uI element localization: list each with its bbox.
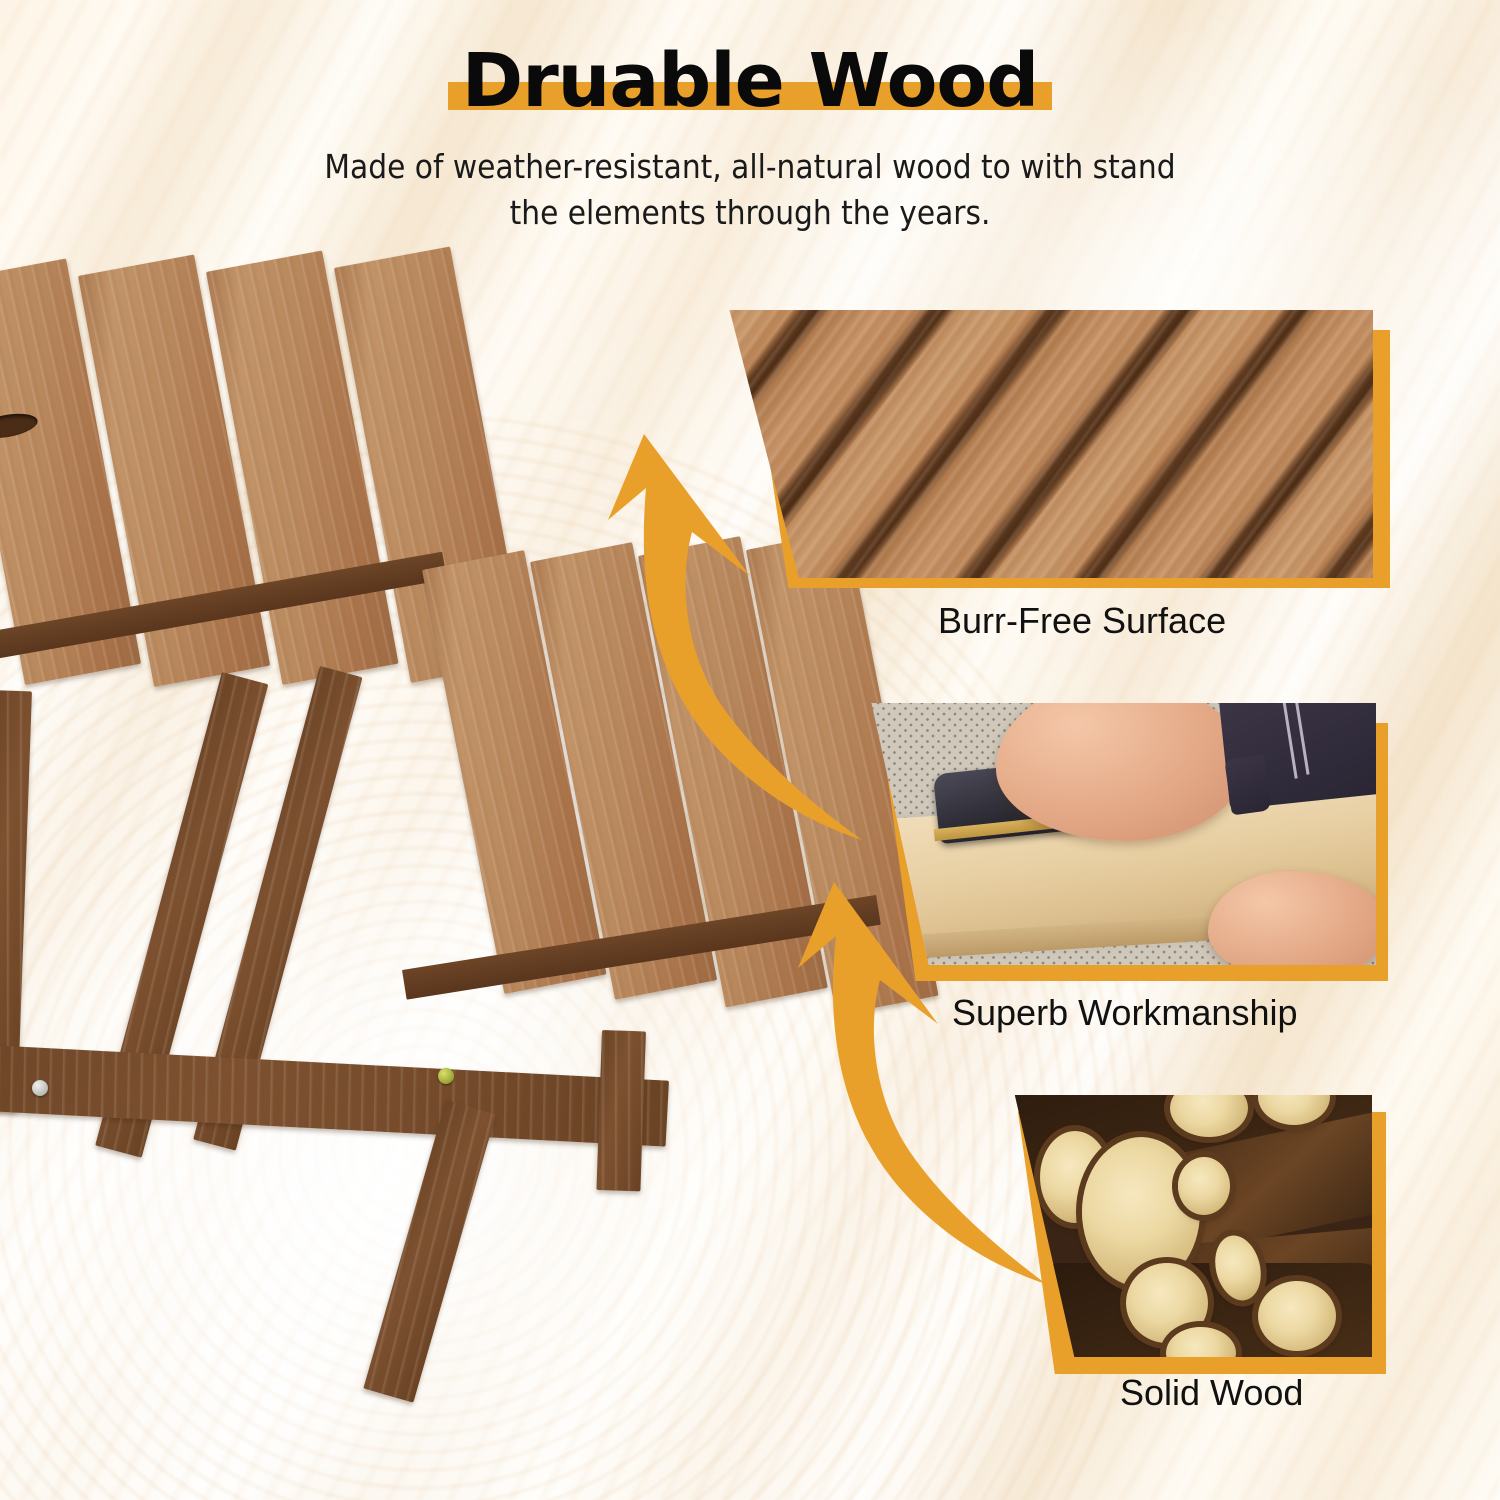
page-title: Druable Wood bbox=[462, 44, 1038, 118]
bench-support bbox=[596, 1030, 646, 1191]
caption-solid-wood: Solid Wood bbox=[1120, 1372, 1303, 1414]
subtitle-line-1: Made of weather-resistant, all-natural w… bbox=[220, 144, 1280, 190]
arrow-to-superb-workmanship bbox=[790, 870, 1090, 1290]
page-subtitle: Made of weather-resistant, all-natural w… bbox=[220, 144, 1280, 235]
log-cut-end bbox=[1258, 1281, 1336, 1351]
sleeve-cuff bbox=[1224, 754, 1271, 815]
infographic-canvas: Druable Wood Made of weather-resistant, … bbox=[0, 0, 1500, 1500]
caption-burr-free-surface: Burr-Free Surface bbox=[938, 600, 1226, 642]
page-title-wrapper: Druable Wood bbox=[462, 44, 1038, 118]
log-cut-end bbox=[1178, 1157, 1230, 1215]
header: Druable Wood Made of weather-resistant, … bbox=[0, 0, 1500, 235]
subtitle-line-2: the elements through the years. bbox=[220, 190, 1280, 236]
arrow-to-burr-free-surface bbox=[600, 420, 920, 850]
log-cut-end bbox=[1082, 1137, 1200, 1287]
